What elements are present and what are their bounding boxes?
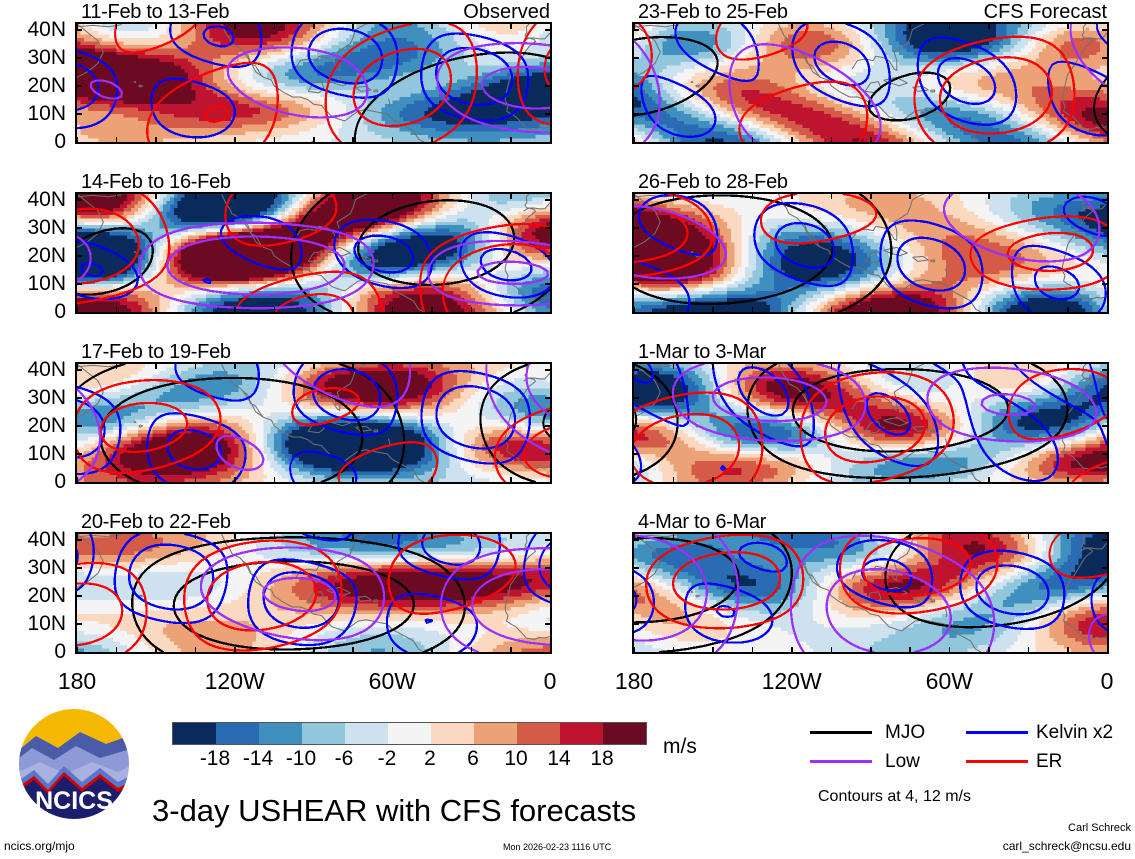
y-axis-tick-label: 40N [0, 529, 66, 550]
y-axis-tick-label: 20N [0, 585, 66, 606]
colorbar-swatch-5 [388, 723, 431, 744]
x-axis-tick-label: 120W [747, 670, 837, 693]
colorbar-tick-label: 18 [572, 748, 632, 769]
y-axis-tick-label: 20N [0, 75, 66, 96]
y-axis-tick-label: 10N [0, 443, 66, 464]
map-panel-p3: 17-Feb to 19-Feb [75, 362, 552, 484]
footer-timestamp: Mon 2026-02-23 1116 UTC [503, 843, 611, 852]
map-field-p6 [632, 192, 1109, 314]
x-axis-tick-label: 0 [505, 670, 595, 693]
legend-swatch-low [810, 760, 872, 763]
map-panel-p5: 23-Feb to 25-FebCFS Forecast [632, 22, 1109, 144]
map-field-p1 [75, 22, 552, 144]
colorbar-swatch-6 [431, 723, 474, 744]
map-field-p5 [632, 22, 1109, 144]
panel-title-p1: 11-Feb to 13-Feb [81, 2, 229, 22]
legend-label-er: ER [1036, 752, 1062, 771]
panel-title-p3: 17-Feb to 19-Feb [81, 342, 231, 362]
panel-column-header-p5: CFS Forecast [984, 2, 1107, 22]
colorbar-swatch-4 [345, 723, 388, 744]
colorbar-units-label: m/s [663, 736, 697, 757]
panel-title-p5: 23-Feb to 25-Feb [638, 2, 788, 22]
map-field-p2 [75, 192, 552, 314]
colorbar-swatch-10 [603, 723, 646, 744]
map-panel-p6: 26-Feb to 28-Feb [632, 192, 1109, 314]
legend-label-mjo: MJO [885, 723, 925, 742]
y-axis-tick-label: 30N [0, 217, 66, 238]
map-panel-p7: 1-Mar to 3-Mar [632, 362, 1109, 484]
map-panel-p8: 4-Mar to 6-Mar [632, 532, 1109, 654]
colorbar [172, 722, 647, 745]
colorbar-swatch-7 [474, 723, 517, 744]
main-title: 3-day USHEAR with CFS forecasts [152, 795, 636, 826]
figure-canvas: 11-Feb to 13-FebObserved14-Feb to 16-Feb… [0, 0, 1135, 859]
y-axis-tick-label: 10N [0, 273, 66, 294]
y-axis-tick-label: 10N [0, 613, 66, 634]
map-field-p4 [75, 532, 552, 654]
map-panel-p2: 14-Feb to 16-Feb [75, 192, 552, 314]
colorbar-swatch-2 [259, 723, 302, 744]
panel-title-p7: 1-Mar to 3-Mar [638, 342, 766, 362]
ncics-logo: NCICS [14, 704, 134, 824]
y-axis-tick-label: 30N [0, 387, 66, 408]
colorbar-swatch-0 [173, 723, 216, 744]
map-panel-p4: 20-Feb to 22-Feb [75, 532, 552, 654]
colorbar-swatch-1 [216, 723, 259, 744]
y-axis-tick-label: 30N [0, 557, 66, 578]
x-axis-tick-label: 120W [190, 670, 280, 693]
colorbar-swatch-8 [517, 723, 560, 744]
legend-label-low: Low [885, 752, 920, 771]
contour-note: Contours at 4, 12 m/s [818, 789, 971, 805]
map-field-p7 [632, 362, 1109, 484]
y-axis-tick-label: 40N [0, 359, 66, 380]
panel-title-p8: 4-Mar to 6-Mar [638, 512, 766, 532]
panel-title-p4: 20-Feb to 22-Feb [81, 512, 231, 532]
x-axis-tick-label: 0 [1062, 670, 1135, 693]
map-field-p8 [632, 532, 1109, 654]
legend-swatch-mjo [810, 731, 872, 734]
footer-site-link[interactable]: ncics.org/mjo [4, 840, 75, 852]
colorbar-swatch-9 [560, 723, 603, 744]
y-axis-tick-label: 0 [0, 471, 66, 492]
y-axis-tick-label: 10N [0, 103, 66, 124]
map-panel-p1: 11-Feb to 13-FebObserved [75, 22, 552, 144]
panel-title-p2: 14-Feb to 16-Feb [81, 172, 231, 192]
footer-author: Carl Schreck [1068, 823, 1131, 834]
y-axis-tick-label: 0 [0, 301, 66, 322]
x-axis-tick-label: 60W [347, 670, 437, 693]
y-axis-tick-label: 30N [0, 47, 66, 68]
y-axis-tick-label: 0 [0, 131, 66, 152]
y-axis-tick-label: 40N [0, 189, 66, 210]
y-axis-tick-label: 0 [0, 641, 66, 662]
colorbar-swatch-3 [302, 723, 345, 744]
panel-column-header-p1: Observed [463, 2, 550, 22]
x-axis-tick-label: 180 [589, 670, 679, 693]
y-axis-tick-label: 20N [0, 415, 66, 436]
x-axis-tick-label: 180 [32, 670, 122, 693]
x-axis-tick-label: 60W [904, 670, 994, 693]
y-axis-tick-label: 20N [0, 245, 66, 266]
legend-swatch-er [966, 760, 1028, 763]
footer-email[interactable]: carl_schreck@ncsu.edu [1003, 840, 1131, 852]
legend-label-kelvin-x2: Kelvin x2 [1036, 723, 1113, 742]
panel-title-p6: 26-Feb to 28-Feb [638, 172, 788, 192]
y-axis-tick-label: 40N [0, 19, 66, 40]
map-field-p3 [75, 362, 552, 484]
legend-swatch-kelvin-x2 [966, 731, 1028, 734]
